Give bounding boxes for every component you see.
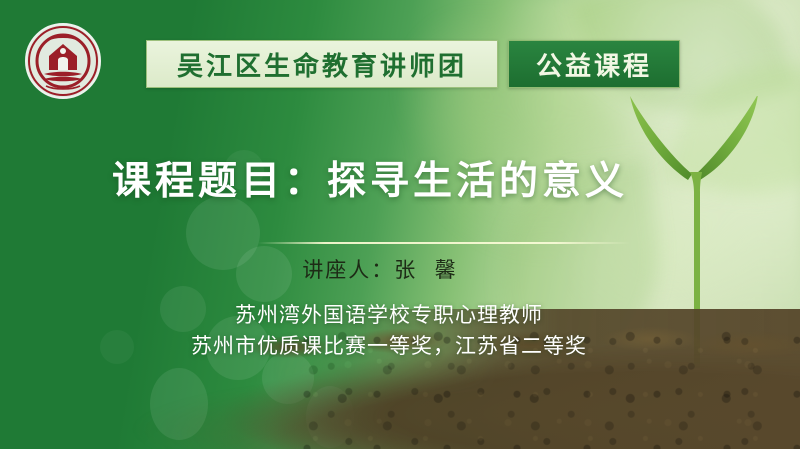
lecturer-team-banner: 吴江区生命教育讲师团 [146,40,498,88]
lecturer-team-banner-label: 吴江区生命教育讲师团 [177,46,467,83]
credential-line: 苏州市优质课比赛一等奖，江苏省二等奖 [0,331,778,362]
header: 吴江区生命教育讲师团 公益课程 [0,0,800,100]
credential-line: 苏州湾外国语学校专职心理教师 [0,300,778,331]
public-course-banner: 公益课程 [508,40,680,88]
speaker-credentials: 苏州湾外国语学校专职心理教师 苏州市优质课比赛一等奖，江苏省二等奖 [0,300,778,362]
speaker-name: 讲座人：张 馨 [0,254,760,284]
public-course-banner-label: 公益课程 [536,46,652,83]
course-poster-slide: 吴江区生命教育讲师团 公益课程 课程题目：探寻生活的意义 讲座人：张 馨 苏州湾… [0,0,800,449]
divider [258,242,630,244]
page-title: 课程题目：探寻生活的意义 [0,150,740,206]
wujiang-education-emblem-icon [24,22,102,100]
